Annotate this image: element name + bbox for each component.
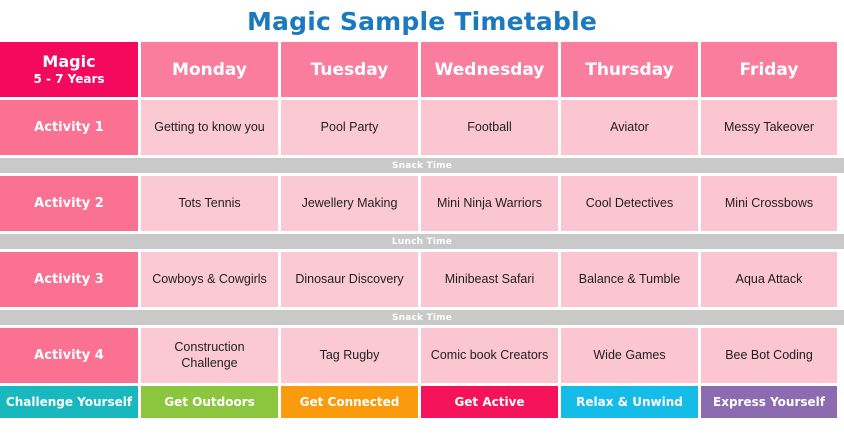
magic-title: Magic [42,54,95,70]
activity-cell-1-monday: Getting to know you [141,100,278,155]
table-row: Activity 3 Cowboys & Cowgirls Dinosaur D… [0,252,844,307]
activity-label-1: Activity 1 [0,100,138,155]
header-cell-magic: Magic 5 - 7 Years [0,42,138,97]
activity-cell-3-wednesday: Minibeast Safari [421,252,558,307]
footer-cell-express-yourself: Express Yourself [701,386,837,418]
break-label-snack-1: Snack Time [0,158,844,173]
activity-label-4: Activity 4 [0,328,138,383]
activity-label-2: Activity 2 [0,176,138,231]
activity-cell-2-friday: Mini Crossbows [701,176,837,231]
table-header-row: Magic 5 - 7 Years Monday Tuesday Wednesd… [0,42,844,97]
activity-cell-2-thursday: Cool Detectives [561,176,698,231]
header-cell-friday: Friday [701,42,837,97]
break-label-snack-2: Snack Time [0,310,844,325]
activity-label-3: Activity 3 [0,252,138,307]
activity-cell-4-thursday: Wide Games [561,328,698,383]
break-row-snack-2: Snack Time [0,310,844,325]
header-cell-wednesday: Wednesday [421,42,558,97]
activity-cell-2-monday: Tots Tennis [141,176,278,231]
timetable-page: Magic Sample Timetable Magic 5 - 7 Years… [0,0,844,434]
break-row-snack-1: Snack Time [0,158,844,173]
break-row-lunch: Lunch Time [0,234,844,249]
footer-cell-get-outdoors: Get Outdoors [141,386,278,418]
footer-cell-get-active: Get Active [421,386,558,418]
activity-cell-1-friday: Messy Takeover [701,100,837,155]
timetable-grid: Magic 5 - 7 Years Monday Tuesday Wednesd… [0,42,844,418]
activity-cell-4-wednesday: Comic book Creators [421,328,558,383]
activity-cell-2-tuesday: Jewellery Making [281,176,418,231]
activity-cell-3-tuesday: Dinosaur Discovery [281,252,418,307]
footer-cell-relax-unwind: Relax & Unwind [561,386,698,418]
activity-cell-3-monday: Cowboys & Cowgirls [141,252,278,307]
table-row: Activity 2 Tots Tennis Jewellery Making … [0,176,844,231]
header-cell-thursday: Thursday [561,42,698,97]
table-row: Activity 1 Getting to know you Pool Part… [0,100,844,155]
activity-cell-3-thursday: Balance & Tumble [561,252,698,307]
activity-cell-1-thursday: Aviator [561,100,698,155]
activity-cell-2-wednesday: Mini Ninja Warriors [421,176,558,231]
activity-cell-1-wednesday: Football [421,100,558,155]
page-title: Magic Sample Timetable [247,7,597,36]
header-cell-tuesday: Tuesday [281,42,418,97]
activity-cell-3-friday: Aqua Attack [701,252,837,307]
activity-cell-4-friday: Bee Bot Coding [701,328,837,383]
footer-cell-challenge-yourself: Challenge Yourself [0,386,138,418]
magic-age-range: 5 - 7 Years [33,73,104,85]
break-label-lunch: Lunch Time [0,234,844,249]
footer-category-row: Challenge Yourself Get Outdoors Get Conn… [0,386,844,418]
activity-cell-4-monday: Construction Challenge [141,328,278,383]
header-cell-monday: Monday [141,42,278,97]
activity-cell-4-tuesday: Tag Rugby [281,328,418,383]
activity-cell-1-tuesday: Pool Party [281,100,418,155]
table-row: Activity 4 Construction Challenge Tag Ru… [0,328,844,383]
page-title-bar: Magic Sample Timetable [0,0,844,42]
footer-cell-get-connected: Get Connected [281,386,418,418]
